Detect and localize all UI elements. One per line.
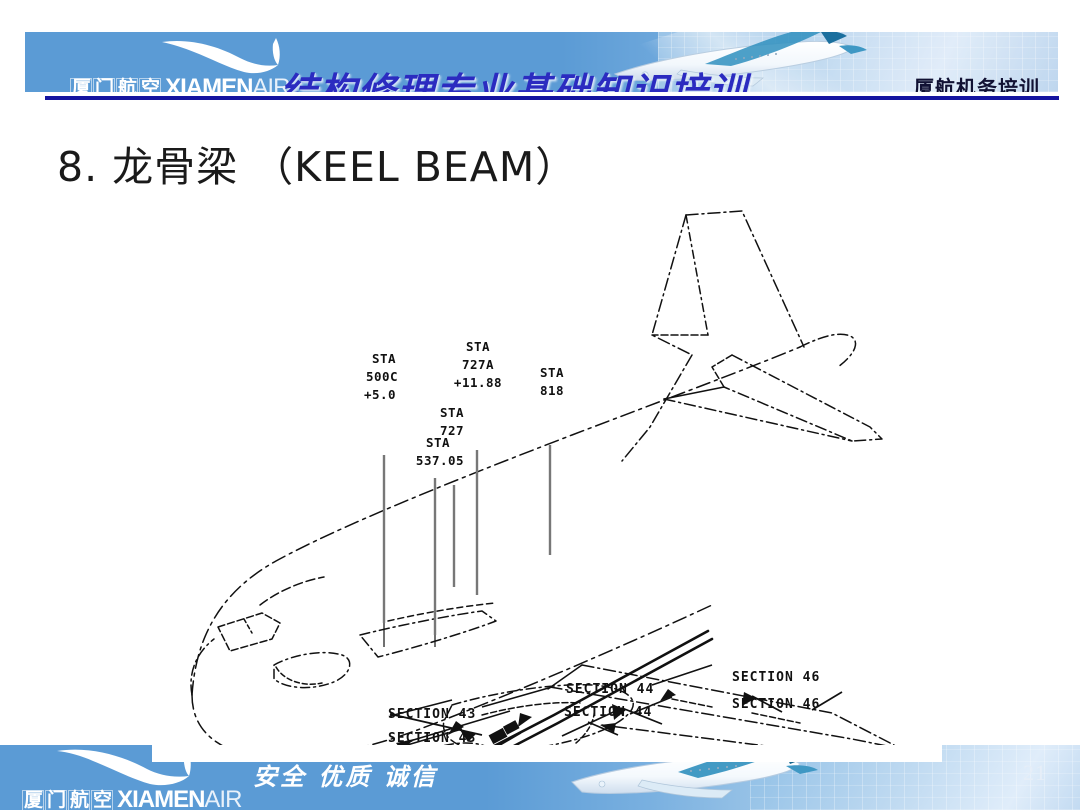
header-banner: 厦门航空 XIAMEN AIR 结构修理专业基础知识培训 厦航机务培训: [25, 32, 1058, 92]
sta-818-line1: STA: [540, 365, 564, 380]
footer-logo-en-bold: XIAMEN: [117, 786, 204, 810]
station-label-sta-537: STA 537.05: [416, 435, 464, 468]
sta-537-line2: 537.05: [416, 453, 464, 468]
page-title: 8. 龙骨梁 （KEEL BEAM）: [57, 133, 577, 193]
header-badge: 厦航机务培训: [914, 72, 1040, 92]
sta-727a-line2: 727A: [462, 357, 494, 372]
sta-500c-line3: +5.0: [364, 387, 396, 402]
sta-727-line1: STA: [440, 405, 464, 420]
header-logo-en-bold: XIAMEN: [165, 74, 252, 92]
sta-500c-line2: 500C: [366, 369, 398, 384]
sta-818-line2: 818: [540, 383, 564, 398]
section-44-text: SECTION 44: [564, 705, 652, 720]
keel-beam-diagram: STA 500C +5.0 STA 537.05 STA 727A +11.88…: [152, 195, 942, 760]
header-logo-wordmark: 厦门航空 XIAMEN AIR: [70, 76, 289, 92]
sta-727a-line3: +11.88: [454, 375, 502, 390]
header-title: 结构修理专业基础知识培训: [280, 62, 920, 92]
sta-500c-line1: STA: [372, 351, 396, 366]
station-label-sta-500c: STA 500C +5.0: [364, 351, 398, 402]
sta-727-line2: 727: [440, 423, 464, 438]
aircraft-line-drawing: STA 500C +5.0 STA 537.05 STA 727A +11.88…: [152, 195, 942, 760]
footer-slogan: 安全 优质 诚信: [253, 757, 438, 792]
header-divider-rule: [45, 96, 1059, 100]
section-label-band: SECTION 43 SECTION 44 SECTION 46: [152, 690, 942, 760]
sta-727a-line1: STA: [466, 339, 490, 354]
xiamenair-egret-logo-icon: [160, 36, 290, 78]
footer-logo-cn: 厦门航空: [22, 789, 114, 810]
station-label-sta-727: STA 727: [440, 405, 464, 438]
page-number: 21: [1023, 760, 1047, 786]
section-46-label: SECTION 46: [732, 670, 820, 685]
footer-logo-en-light: AIR: [204, 786, 241, 810]
slide-root: 厦门航空 XIAMEN AIR 结构修理专业基础知识培训 厦航机务培训: [0, 0, 1080, 810]
section-43-text: SECTION 43: [388, 731, 476, 746]
station-label-sta-818: STA 818: [540, 365, 564, 398]
station-label-sta-727a: STA 727A +11.88: [454, 339, 502, 390]
footer-logo-wordmark: 厦门航空 XIAMEN AIR: [22, 788, 241, 810]
section-46-text: SECTION 46: [732, 697, 820, 712]
header-logo-cn: 厦门航空: [70, 77, 162, 92]
